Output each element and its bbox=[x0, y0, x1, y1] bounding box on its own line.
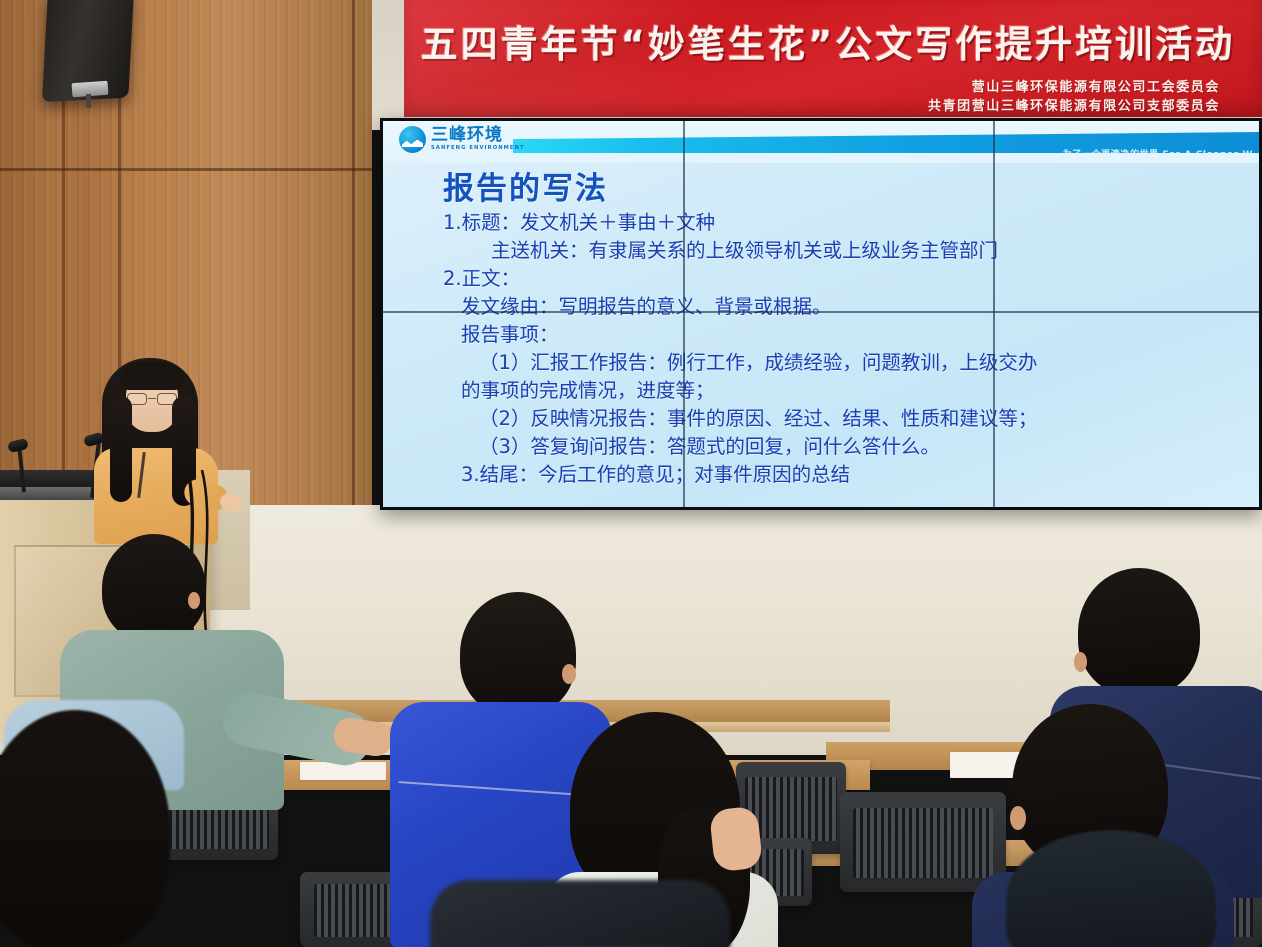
slide-header-band: 为了一个更清净的世界 For A Cleaner W 三峰环境 SANFENG … bbox=[383, 121, 1259, 163]
slide-line: 报告事项： bbox=[443, 321, 1249, 349]
slide-line: （3）答复询问报告：答题式的回复，问什么答什么。 bbox=[443, 433, 1249, 461]
ear bbox=[188, 592, 200, 609]
slide-line: 发文缘由：写明报告的意义、背景或根据。 bbox=[443, 293, 1249, 321]
presenter-glasses-icon bbox=[126, 393, 178, 405]
audience-foreground-bottom bbox=[430, 880, 730, 947]
slide-tagline: 为了一个更清净的世界 For A Cleaner W bbox=[1063, 147, 1253, 160]
conference-room-scene: 五四青年节“妙笔生花”公文写作提升培训活动 营山三峰环保能源有限公司工会委员会 … bbox=[0, 0, 1262, 947]
head bbox=[1078, 568, 1200, 696]
slide-line: 3.结尾：今后工作的意见；对事件原因的总结 bbox=[443, 461, 1249, 489]
speaker-stem bbox=[86, 94, 91, 108]
presentation-slide: 为了一个更清净的世界 For A Cleaner W 三峰环境 SANFENG … bbox=[383, 121, 1259, 507]
slide-line: 主送机关：有隶属关系的上级领导机关或上级业务主管部门 bbox=[443, 237, 1249, 265]
slide-header-accent-bar: 为了一个更清净的世界 For A Cleaner W bbox=[513, 132, 1259, 153]
wall-seam bbox=[0, 168, 372, 171]
ear bbox=[1074, 652, 1087, 672]
ear bbox=[1010, 806, 1026, 830]
audience-foreground-right bbox=[996, 830, 1246, 947]
head bbox=[1006, 830, 1216, 947]
slide-body: 1.标题：发文机关＋事由＋文种 主送机关：有隶属关系的上级领导机关或上级业务主管… bbox=[443, 209, 1249, 489]
slide-line: （2）反映情况报告：事件的原因、经过、结果、性质和建议等； bbox=[443, 405, 1249, 433]
video-wall-display[interactable]: 为了一个更清净的世界 For A Cleaner W 三峰环境 SANFENG … bbox=[380, 118, 1262, 510]
company-logo: 三峰环境 SANFENG ENVIRONMENT bbox=[399, 126, 525, 153]
ear bbox=[562, 664, 576, 684]
slide-title: 报告的写法 bbox=[443, 163, 608, 208]
banner-subtitle-line1: 营山三峰环保能源有限公司工会委员会 bbox=[972, 76, 1220, 95]
hand bbox=[709, 806, 763, 873]
chair bbox=[840, 792, 1006, 892]
slide-line: 2.正文： bbox=[443, 265, 1249, 293]
display-panel-seam bbox=[383, 311, 1259, 313]
head bbox=[102, 534, 206, 642]
torso bbox=[430, 880, 730, 947]
audience-foreground-left bbox=[0, 700, 210, 947]
presenter-hair-strand bbox=[110, 396, 132, 502]
event-banner: 五四青年节“妙笔生花”公文写作提升培训活动 营山三峰环保能源有限公司工会委员会 … bbox=[404, 0, 1262, 117]
slide-line: 的事项的完成情况，进度等； bbox=[443, 377, 1249, 405]
presenter-fringe bbox=[120, 362, 184, 390]
banner-subtitle-line2: 共青团营山三峰环保能源有限公司支部委员会 bbox=[928, 95, 1220, 114]
banner-title: 五四青年节“妙笔生花”公文写作提升培训活动 bbox=[404, 14, 1252, 68]
head bbox=[460, 592, 576, 716]
display-panel-seam bbox=[683, 121, 685, 507]
display-panel-seam bbox=[993, 121, 995, 507]
logo-text-en: SANFENG ENVIRONMENT bbox=[431, 146, 525, 151]
slide-line: 1.标题：发文机关＋事由＋文种 bbox=[443, 209, 1249, 237]
slide-line: （1）汇报工作报告：例行工作，成绩经验，问题教训，上级交办 bbox=[443, 349, 1249, 377]
wave-circle-icon bbox=[399, 126, 426, 153]
logo-text-cn: 三峰环境 bbox=[431, 127, 525, 144]
